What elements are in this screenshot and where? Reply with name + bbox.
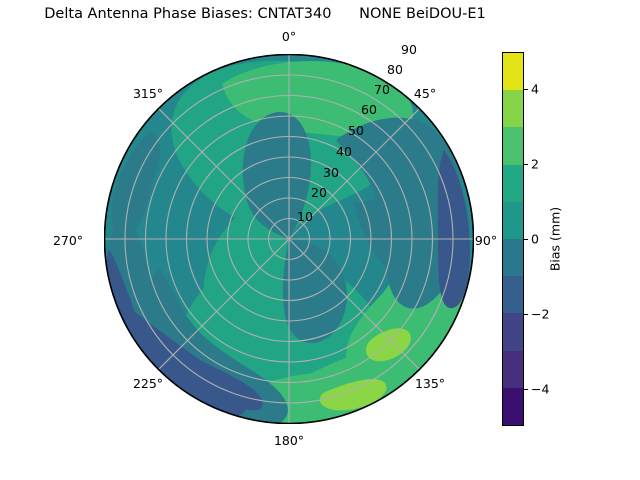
r-tick-label-90: 90 bbox=[401, 42, 417, 57]
colorbar-tick-label-neg4: −4 bbox=[531, 381, 549, 396]
theta-tick-label-135: 135° bbox=[400, 376, 460, 391]
r-tick-label-40: 40 bbox=[336, 144, 352, 159]
colorbar-band-2 bbox=[503, 127, 523, 164]
colorbar-band-4 bbox=[503, 202, 523, 239]
r-tick-label-50: 50 bbox=[348, 123, 364, 138]
colorbar-band-8 bbox=[503, 351, 523, 388]
theta-tick-label-180: 180° bbox=[259, 433, 319, 448]
colorbar-tick-2 bbox=[524, 164, 528, 165]
polar-plot-svg bbox=[104, 54, 474, 424]
r-tick-label-80: 80 bbox=[387, 62, 403, 77]
colorbar-tick-label-neg2: −2 bbox=[531, 306, 549, 321]
contour-band-darkblue-e bbox=[438, 150, 470, 308]
colorbar-tick-0 bbox=[524, 239, 528, 240]
colorbar-band-0 bbox=[503, 53, 523, 90]
r-tick-label-60: 60 bbox=[361, 102, 377, 117]
colorbar-gradient bbox=[502, 52, 524, 426]
colorbar[interactable]: 4 2 0 −2 −4 bbox=[502, 52, 524, 426]
theta-tick-label-315: 315° bbox=[118, 86, 178, 101]
colorbar-band-7 bbox=[503, 313, 523, 350]
colorbar-tick-neg2 bbox=[524, 314, 528, 315]
r-tick-label-10: 10 bbox=[297, 209, 313, 224]
colorbar-tick-neg4 bbox=[524, 389, 528, 390]
theta-tick-label-225: 225° bbox=[118, 376, 178, 391]
colorbar-band-6 bbox=[503, 276, 523, 313]
theta-tick-label-45: 45° bbox=[400, 86, 450, 101]
figure-canvas: Delta Antenna Phase Biases: CNTAT340 NON… bbox=[0, 0, 640, 480]
r-tick-label-70: 70 bbox=[374, 82, 390, 97]
theta-tick-label-90: 90° bbox=[466, 233, 506, 248]
colorbar-band-3 bbox=[503, 165, 523, 202]
colorbar-axis-label: Bias (mm) bbox=[548, 207, 563, 271]
colorbar-band-1 bbox=[503, 90, 523, 127]
r-tick-label-30: 30 bbox=[323, 165, 339, 180]
colorbar-tick-4 bbox=[524, 89, 528, 90]
colorbar-tick-label-0: 0 bbox=[531, 232, 539, 247]
r-tick-label-20: 20 bbox=[311, 185, 327, 200]
colorbar-tick-label-4: 4 bbox=[531, 82, 539, 97]
polar-grid-spokes bbox=[104, 54, 474, 424]
theta-tick-label-0: 0° bbox=[259, 29, 319, 44]
theta-tick-label-270: 270° bbox=[38, 233, 98, 248]
page-title: Delta Antenna Phase Biases: CNTAT340 NON… bbox=[0, 6, 530, 22]
polar-plot: 10 20 30 40 50 60 70 80 90 bbox=[104, 54, 474, 424]
colorbar-band-5 bbox=[503, 239, 523, 276]
colorbar-band-9 bbox=[503, 388, 523, 425]
colorbar-tick-label-2: 2 bbox=[531, 157, 539, 172]
